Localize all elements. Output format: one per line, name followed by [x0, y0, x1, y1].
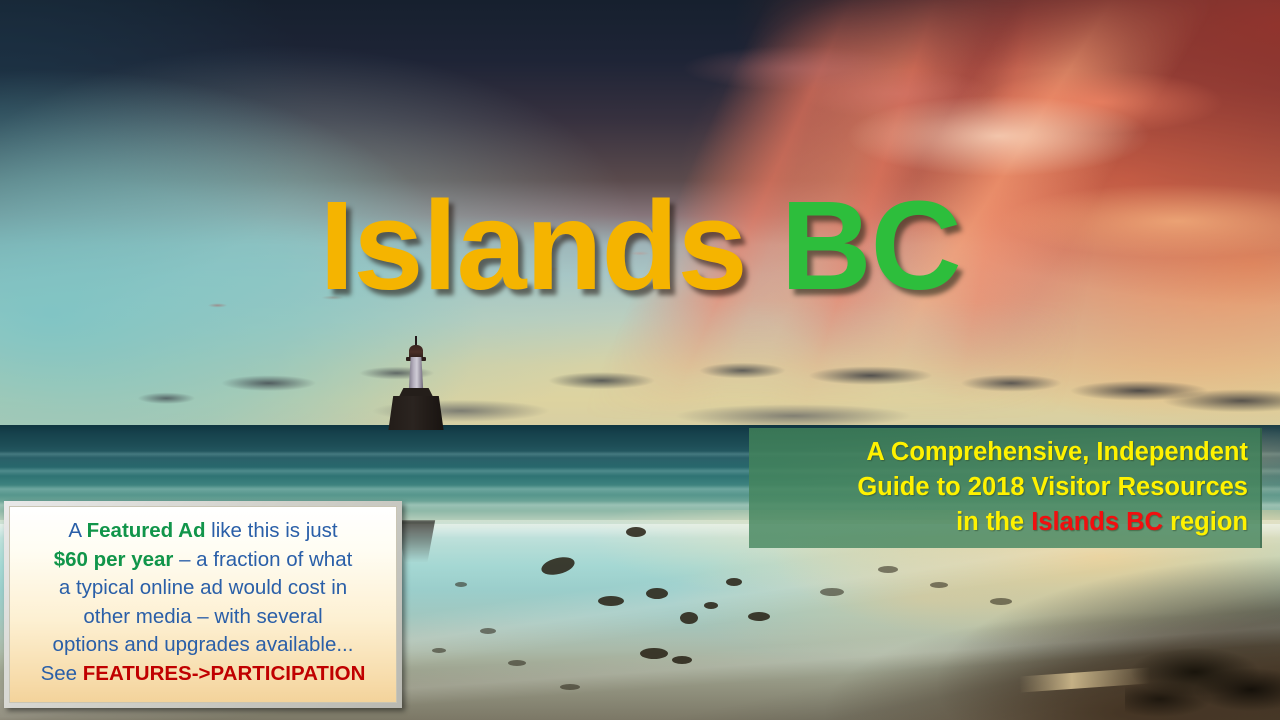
tagline-brand-highlight: Islands BC: [1031, 508, 1163, 536]
seaweed-speck: [455, 582, 467, 587]
ad-line-2: $60 per year – a fraction of what: [20, 546, 386, 575]
lighthouse-base: [386, 396, 446, 430]
ad-price: $60 per year: [54, 548, 174, 571]
tagline-line-3-suffix: region: [1163, 508, 1248, 536]
seaweed-clump: [748, 612, 770, 621]
ad-line-2-b: – a fraction of what: [173, 548, 352, 571]
title-islands: Islands: [319, 175, 746, 316]
ad-line-6: See FEATURES->PARTICIPATION: [20, 660, 386, 689]
seaweed-clump: [626, 527, 646, 537]
seaweed-clump: [646, 588, 668, 599]
title-bc: BC: [781, 175, 961, 316]
seaweed-speck: [878, 566, 898, 573]
ad-line-4: other media – with several: [20, 603, 386, 632]
ad-line-1-a: A: [68, 519, 86, 542]
lighthouse: [386, 334, 446, 430]
lighthouse-tower: [407, 357, 425, 390]
seaweed-speck: [432, 648, 446, 653]
seaweed-clump: [726, 578, 742, 586]
seaweed-clump: [640, 648, 668, 659]
ad-line-5: options and upgrades available...: [20, 631, 386, 660]
seaweed-speck: [820, 588, 844, 596]
horizon-cloud-band: [0, 300, 1280, 426]
ad-featured-label: Featured Ad: [87, 519, 206, 542]
seaweed-speck: [560, 684, 580, 690]
tagline-line-2: Guide to 2018 Visitor Resources: [759, 470, 1248, 505]
featured-ad-content: A Featured Ad like this is just $60 per …: [9, 506, 397, 703]
tagline-line-1: A Comprehensive, Independent: [759, 435, 1248, 470]
ad-call-to-action[interactable]: FEATURES->PARTICIPATION: [83, 662, 366, 685]
seaweed-speck: [508, 660, 526, 666]
hero-slide: Islands BC A Comprehensive, Independent …: [0, 0, 1280, 720]
featured-ad-box[interactable]: A Featured Ad like this is just $60 per …: [4, 501, 402, 708]
tagline-banner: A Comprehensive, Independent Guide to 20…: [749, 428, 1262, 548]
kelp-pile: [1125, 640, 1280, 720]
seaweed-speck: [930, 582, 948, 588]
seaweed-speck: [990, 598, 1012, 605]
tagline-line-3-prefix: in the: [956, 508, 1031, 536]
seaweed-clump: [704, 602, 718, 609]
ad-line-1: A Featured Ad like this is just: [20, 517, 386, 546]
seaweed-clump: [598, 596, 624, 606]
ad-line-3: a typical online ad would cost in: [20, 574, 386, 603]
tagline-line-3: in the Islands BC region: [759, 505, 1248, 540]
seaweed-clump: [680, 612, 698, 624]
seaweed-clump: [672, 656, 692, 664]
ad-line-6-a: See: [41, 662, 83, 685]
page-title: Islands BC: [0, 178, 1280, 314]
seaweed-speck: [480, 628, 496, 634]
ad-line-1-c: like this is just: [205, 519, 337, 542]
